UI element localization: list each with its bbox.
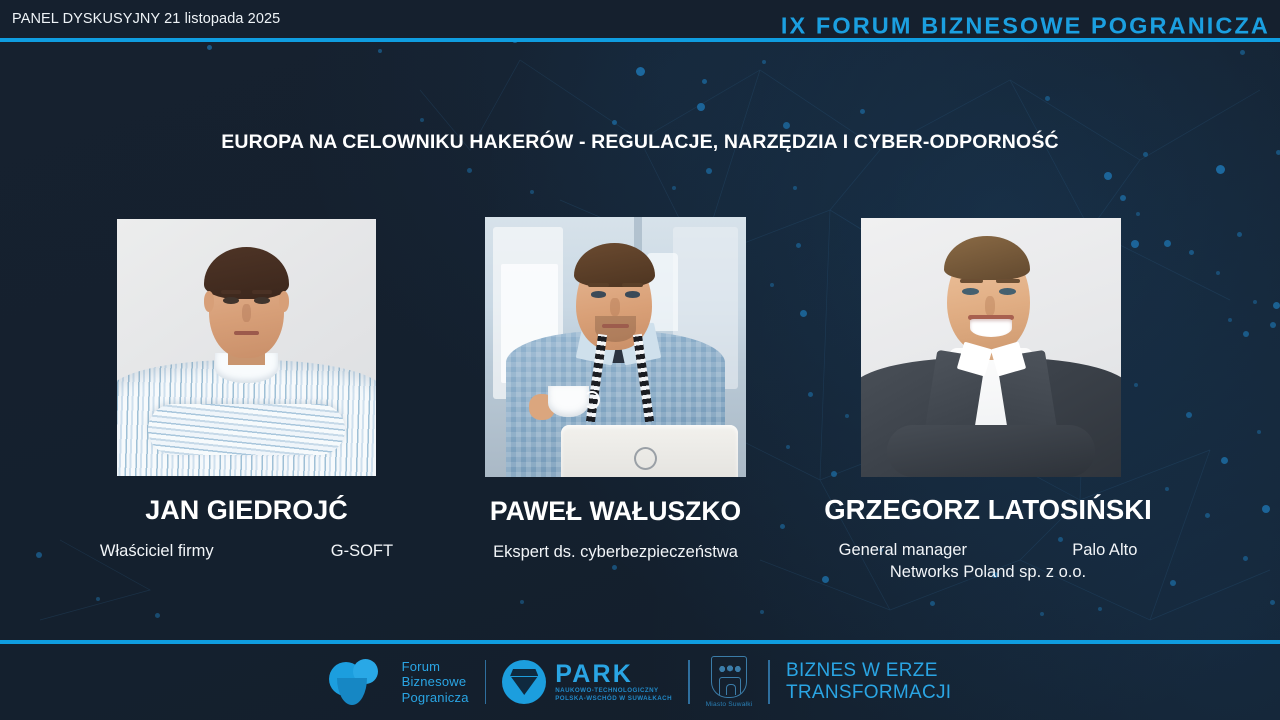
forum-logo-line-1: Forum: [402, 659, 469, 675]
speaker-company-3-line2: Networks Poland sp. z o.o.: [890, 563, 1086, 581]
speaker-role-3: General manager Palo Alto Networks Polan…: [786, 539, 1190, 583]
logo-forum-biznesowe-pogranicza: Forum Biznesowe Pogranicza: [329, 659, 469, 706]
speaker-photo-jan-giedrojc: [117, 219, 376, 476]
logo-park: PARK NAUKOWO-TECHNOLOGICZNY POLSKA-WSCHÓ…: [502, 660, 672, 704]
logo-divider-2: [688, 660, 690, 704]
footer: Forum Biznesowe Pogranicza PARK NAUKOWO-…: [0, 644, 1280, 720]
logo-miasto-suwalki: Miasto Suwałki: [706, 656, 753, 708]
forum-logo-text: Forum Biznesowe Pogranicza: [402, 659, 469, 706]
forum-logo-line-2: Biznesowe: [402, 674, 469, 690]
diamond-icon: [502, 660, 546, 704]
park-subtitle-line-1: NAUKOWO-TECHNOLOGICZNY: [555, 687, 672, 695]
forum-logo-line-3: Pogranicza: [402, 690, 469, 706]
slogan-line-2: TRANSFORMACJI: [786, 682, 951, 704]
speaker-company-1: G-SOFT: [331, 542, 393, 560]
speaker-name-2: PAWEŁ WAŁUSZKO: [420, 496, 811, 527]
forum-circles-icon: [329, 659, 391, 705]
footer-accent-rule: [0, 640, 1280, 644]
speakers-section: JAN GIEDROJĆ Właściciel firmy G-SOFT: [0, 0, 1280, 720]
footer-logos: Forum Biznesowe Pogranicza PARK NAUKOWO-…: [0, 644, 1280, 720]
speaker-name-3: GRZEGORZ LATOSIŃSKI: [790, 494, 1186, 526]
speaker-photo-grzegorz-latosinski: [861, 218, 1121, 477]
logo-divider-3: [768, 660, 770, 704]
speaker-company-3: Palo Alto: [1072, 541, 1137, 559]
logo-divider-1: [485, 660, 487, 704]
speaker-role-text-1: Właściciel firmy: [100, 542, 214, 560]
speaker-role-text-3: General manager: [839, 541, 967, 559]
header-accent-rule: [0, 38, 1280, 42]
city-logo-caption: Miasto Suwałki: [706, 701, 753, 708]
coat-of-arms-icon: [711, 656, 747, 698]
park-wordmark: PARK: [555, 662, 672, 687]
speaker-photo-pawel-waluszko: [485, 217, 746, 477]
slogan-line-1: BIZNES W ERZE: [786, 660, 951, 682]
footer-slogan: BIZNES W ERZE TRANSFORMACJI: [786, 660, 951, 704]
speaker-role-2: Ekspert ds. cyberbezpieczeństwa: [410, 541, 821, 563]
park-subtitle-line-2: POLSKA-WSCHÓD W SUWAŁKACH: [555, 695, 672, 703]
